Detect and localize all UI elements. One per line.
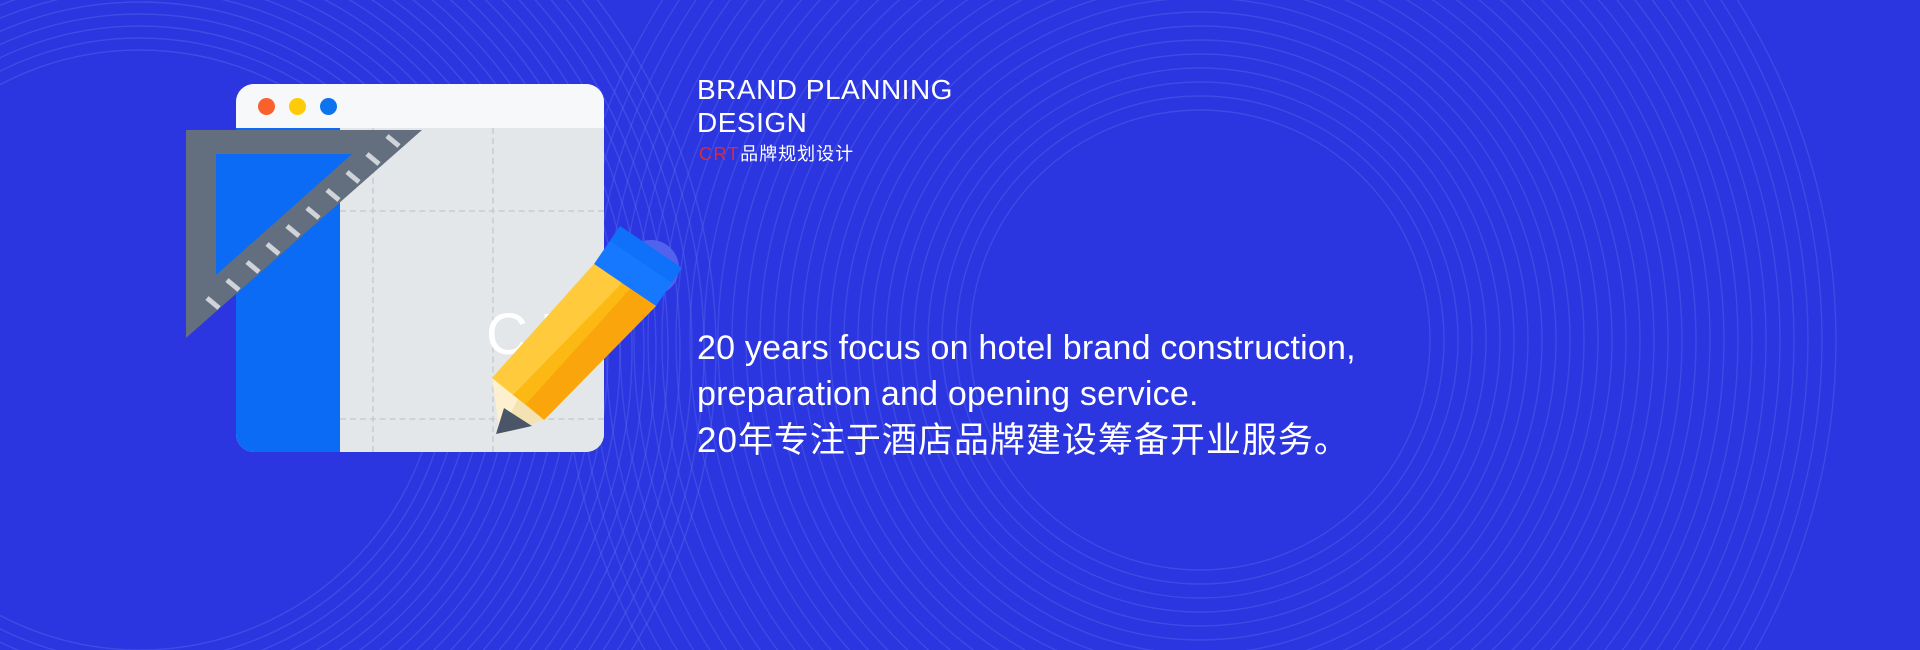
kicker-brand-crt: CRT <box>699 144 740 164</box>
lead-paragraph-cn: 20年专注于酒店品牌建设筹备开业服务。 <box>697 412 1350 463</box>
triangle-ruler-icon <box>186 130 422 338</box>
maximize-dot-icon[interactable] <box>320 98 337 115</box>
lead-paragraph-en: 20 years focus on hotel brand constructi… <box>697 326 1356 417</box>
pencil-icon <box>470 226 682 434</box>
kicker-subtitle-cn: 品牌规划设计 <box>740 144 854 164</box>
close-dot-icon[interactable] <box>258 98 275 115</box>
brand-banner: CRT <box>0 0 1920 650</box>
copy-block: BRAND PLANNING DESIGN CRT品牌规划设计 20 years… <box>697 0 1857 650</box>
kicker-subtitle: CRT品牌规划设计 <box>699 140 854 166</box>
window-titlebar <box>236 84 604 128</box>
minimize-dot-icon[interactable] <box>289 98 306 115</box>
kicker-heading: BRAND PLANNING DESIGN <box>697 74 953 140</box>
